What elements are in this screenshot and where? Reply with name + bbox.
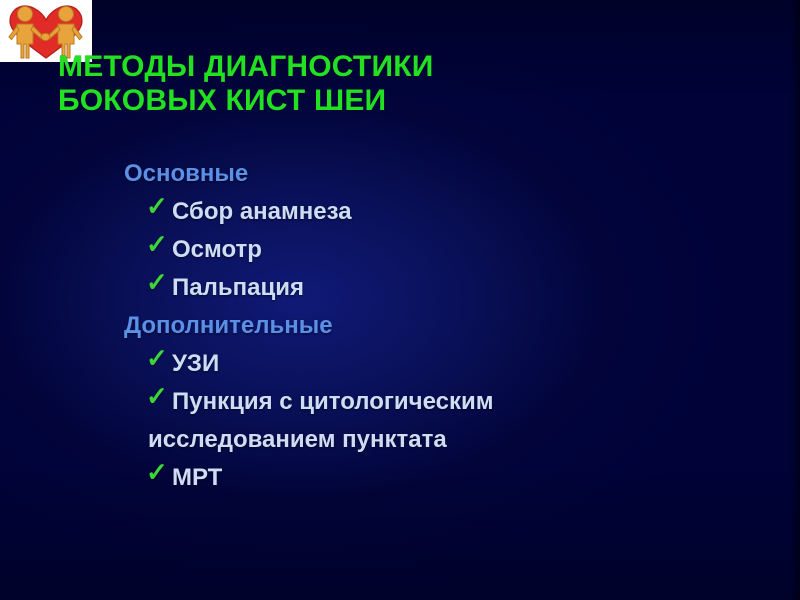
list-item-label: Сбор анамнеза (172, 198, 352, 225)
content-group-osnovnye: Основные ✓ Сбор анамнеза ✓ Осмотр ✓ Паль… (124, 155, 744, 307)
list-item: ✓ УЗИ (172, 345, 744, 383)
bullet-list-dopolnitelnye: ✓ УЗИ ✓ Пункция с цитологическим исследо… (124, 345, 744, 497)
checkmark-icon: ✓ (146, 453, 168, 491)
list-item-label: Осмотр (172, 236, 262, 263)
bullet-list-osnovnye: ✓ Сбор анамнеза ✓ Осмотр ✓ Пальпация (124, 193, 744, 307)
slide-body: Основные ✓ Сбор анамнеза ✓ Осмотр ✓ Паль… (124, 155, 744, 497)
list-item-label-continuation: исследованием пунктата (148, 421, 744, 459)
checkmark-icon: ✓ (146, 187, 168, 225)
list-item: ✓ Сбор анамнеза (172, 193, 744, 231)
background-right-edge (790, 0, 800, 600)
list-item-label: Пункция с цитологическим (172, 388, 493, 415)
list-item-label: МРТ (172, 464, 222, 491)
list-item: ✓ Пункция с цитологическим исследованием… (172, 383, 744, 459)
presentation-slide: МЕТОДЫ ДИАГНОСТИКИ БОКОВЫХ КИСТ ШЕИ Осно… (0, 0, 800, 600)
group-heading-osnovnye: Основные (124, 155, 744, 193)
list-item: ✓ Пальпация (172, 269, 744, 307)
checkmark-icon: ✓ (146, 225, 168, 263)
content-group-dopolnitelnye: Дополнительные ✓ УЗИ ✓ Пункция с цитолог… (124, 307, 744, 497)
slide-title: МЕТОДЫ ДИАГНОСТИКИ БОКОВЫХ КИСТ ШЕИ (58, 50, 758, 118)
list-item-label: УЗИ (172, 350, 219, 377)
checkmark-icon: ✓ (146, 377, 168, 415)
group-heading-dopolnitelnye: Дополнительные (124, 307, 744, 345)
checkmark-icon: ✓ (146, 339, 168, 377)
list-item: ✓ Осмотр (172, 231, 744, 269)
list-item: ✓ МРТ (172, 459, 744, 497)
list-item-label: Пальпация (172, 274, 304, 301)
checkmark-icon: ✓ (146, 263, 168, 301)
